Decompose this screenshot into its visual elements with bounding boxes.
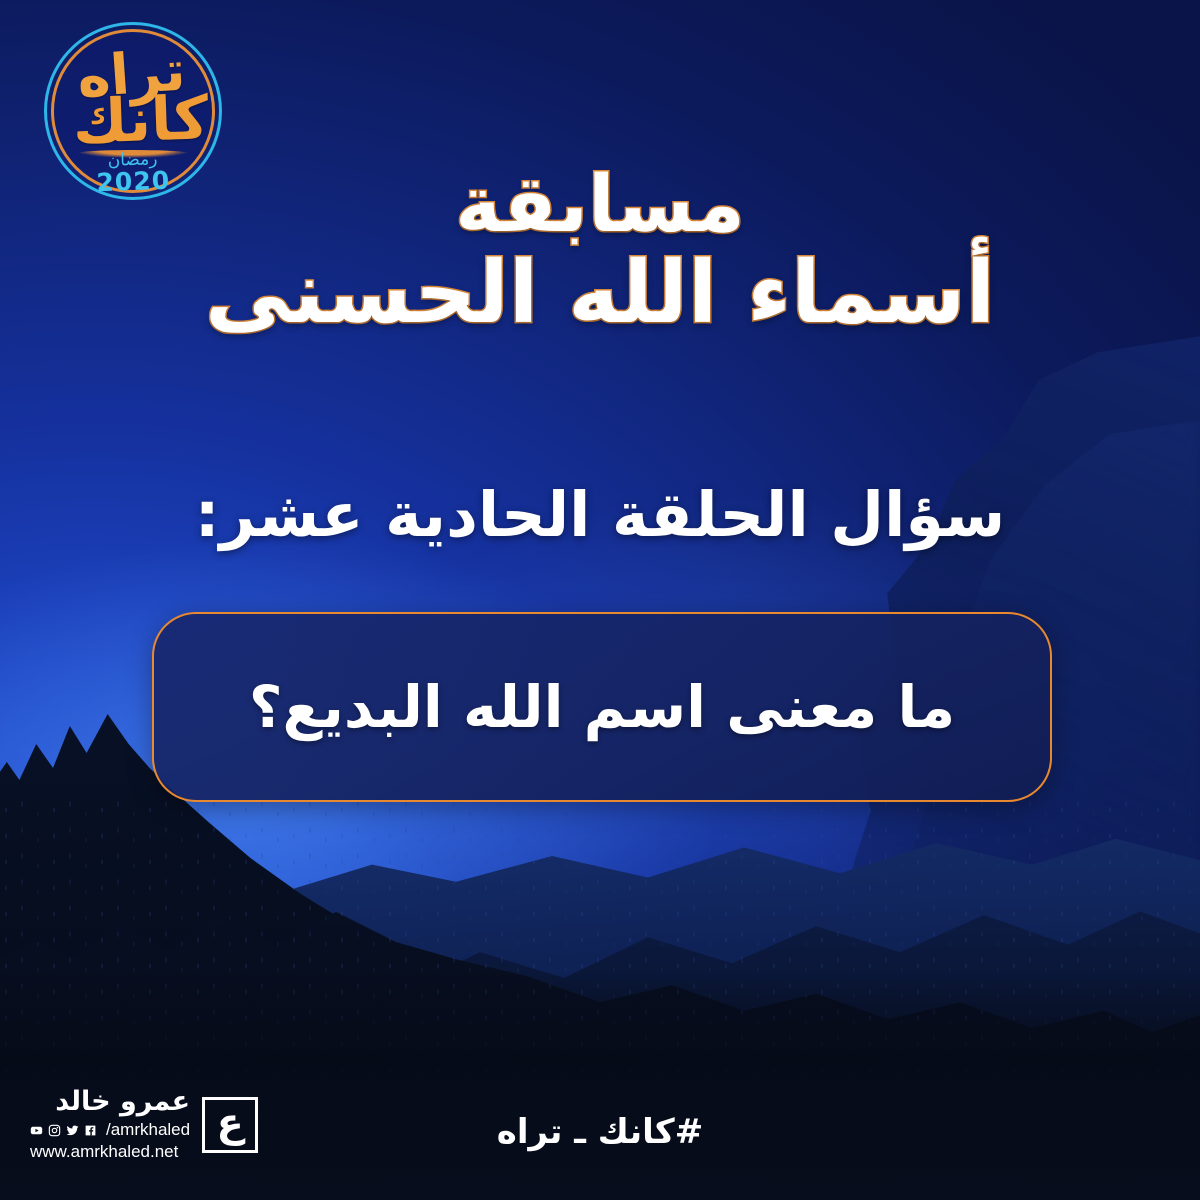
poster-canvas: تراه كانك رمضان 2020 مسابقة أسماء الله ا… [0, 0, 1200, 1200]
title-line-2: أسماء الله الحسنى [0, 248, 1200, 338]
question-text: ما معنى اسم الله البديع؟ [249, 673, 955, 741]
bottom-darkening-gradient [0, 970, 1200, 1200]
question-box: ما معنى اسم الله البديع؟ [152, 612, 1052, 802]
title-line-1: مسابقة [0, 168, 1200, 242]
episode-question-label: سؤال الحلقة الحادية عشر: [0, 478, 1200, 551]
title-block: مسابقة أسماء الله الحسنى [0, 168, 1200, 338]
logo-wordmark-line2: كانك [51, 91, 231, 151]
logo-wordmark: تراه كانك [41, 44, 225, 155]
campaign-hashtag: #كانك ـ تراه [0, 1112, 1200, 1152]
